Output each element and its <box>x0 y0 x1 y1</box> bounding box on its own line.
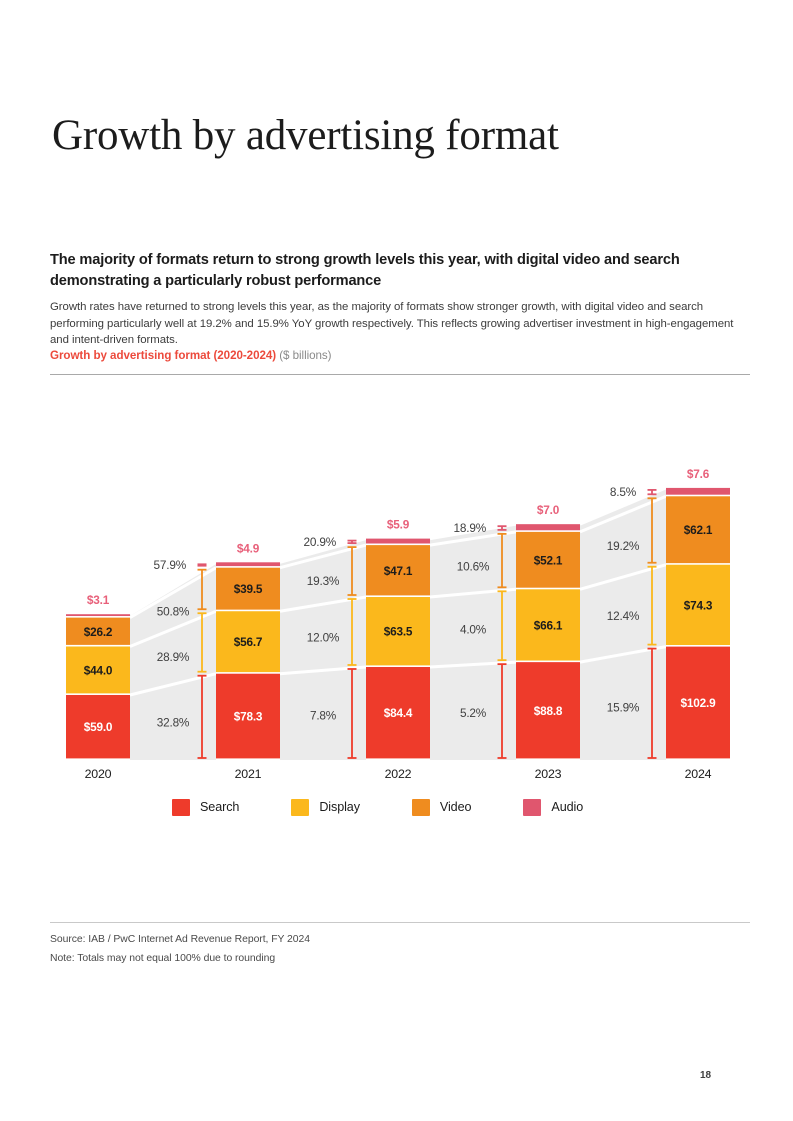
bar-value-label-search: $59.0 <box>84 720 113 734</box>
bar-value-label-display: $44.0 <box>84 663 113 677</box>
bar-value-label-display: $56.7 <box>234 635 263 649</box>
growth-pct-label-search: 7.8% <box>310 709 337 723</box>
x-axis-label: 2022 <box>385 767 412 781</box>
chart-legend: Search Display Video Audio <box>172 796 692 818</box>
bar-value-label-display: $66.1 <box>534 618 563 632</box>
bar-value-label-display: $74.3 <box>684 598 713 612</box>
bar-value-label-video: $62.1 <box>684 523 713 537</box>
chart-area: $59.0$44.0$26.2$3.1$78.3$56.7$39.5$4.9$8… <box>40 400 760 790</box>
bar-group[interactable]: $102.9$74.3$62.1$7.6 <box>666 467 730 758</box>
growth-pct-label-search: 32.8% <box>157 716 190 730</box>
legend-item-display[interactable]: Display <box>291 799 360 816</box>
legend-item-search[interactable]: Search <box>172 799 239 816</box>
legend-swatch-audio <box>523 799 541 816</box>
bar-group[interactable]: $88.8$66.1$52.1$7.0 <box>516 503 580 758</box>
section-headline: The majority of formats return to strong… <box>50 250 750 292</box>
x-axis-label: 2024 <box>685 767 712 781</box>
x-axis-labels: 20202021202220232024 <box>85 767 712 781</box>
page-title: Growth by advertising format <box>52 109 752 163</box>
x-axis-label: 2020 <box>85 767 112 781</box>
growth-pct-label-audio: 20.9% <box>304 535 337 549</box>
slide-page: Growth by advertising format The majorit… <box>0 0 793 1121</box>
growth-pct-label-video: 19.3% <box>307 574 340 588</box>
note-line: Note: Totals may not equal 100% due to r… <box>50 949 650 968</box>
bar-value-label-search: $84.4 <box>384 706 413 720</box>
legend-label-audio: Audio <box>551 800 583 814</box>
bar-value-label-search: $88.8 <box>534 704 563 718</box>
bar-value-label-display: $63.5 <box>384 625 413 639</box>
page-number: 18 <box>700 1070 750 1081</box>
bar-segment-audio[interactable] <box>366 539 430 544</box>
bar-group[interactable]: $84.4$63.5$47.1$5.9 <box>366 518 430 759</box>
growth-pct-label-video: 19.2% <box>607 539 640 553</box>
bar-segment-audio[interactable] <box>516 524 580 530</box>
legend-label-search: Search <box>200 800 239 814</box>
legend-swatch-video <box>412 799 430 816</box>
bar-value-label-video: $47.1 <box>384 564 413 578</box>
stacked-bar-chart: $59.0$44.0$26.2$3.1$78.3$56.7$39.5$4.9$8… <box>40 400 760 790</box>
legend-item-audio[interactable]: Audio <box>523 799 583 816</box>
growth-pct-label-audio: 18.9% <box>454 521 487 535</box>
bar-value-label-audio: $3.1 <box>87 593 110 607</box>
growth-pct-label-search: 15.9% <box>607 701 640 715</box>
bar-segment-audio[interactable] <box>66 614 130 616</box>
legend-label-video: Video <box>440 800 471 814</box>
legend-label-display: Display <box>319 800 360 814</box>
bar-group[interactable]: $59.0$44.0$26.2$3.1 <box>66 593 130 758</box>
growth-pct-label-search: 5.2% <box>460 706 487 720</box>
chart-heading: Growth by advertising format (2020-2024)… <box>50 348 750 364</box>
growth-pct-label-display: 12.4% <box>607 609 640 623</box>
growth-pct-label-video: 10.6% <box>457 559 490 573</box>
growth-pct-label-display: 4.0% <box>460 622 487 636</box>
bar-value-label-audio: $5.9 <box>387 518 410 532</box>
footer-divider <box>50 922 750 923</box>
chart-heading-main: Growth by advertising format (2020-2024) <box>50 349 276 362</box>
bar-value-label-audio: $4.9 <box>237 541 260 555</box>
legend-item-video[interactable]: Video <box>412 799 471 816</box>
growth-bracket-audio <box>198 564 207 565</box>
bar-segment-audio[interactable] <box>216 562 280 566</box>
x-axis-label: 2021 <box>235 767 262 781</box>
bar-value-label-search: $102.9 <box>681 696 717 710</box>
chart-divider <box>50 374 750 375</box>
intro-paragraph: Growth rates have returned to strong lev… <box>50 299 752 348</box>
footer-notes: Source: IAB / PwC Internet Ad Revenue Re… <box>50 930 650 968</box>
bar-value-label-video: $52.1 <box>534 553 563 567</box>
bar-segment-audio[interactable] <box>666 488 730 495</box>
bar-group[interactable]: $78.3$56.7$39.5$4.9 <box>216 541 280 758</box>
bar-value-label-video: $26.2 <box>84 625 113 639</box>
chart-heading-unit: ($ billions) <box>279 349 331 362</box>
bar-value-label-video: $39.5 <box>234 582 263 596</box>
bar-value-label-search: $78.3 <box>234 710 263 724</box>
source-line: Source: IAB / PwC Internet Ad Revenue Re… <box>50 930 650 949</box>
x-axis-label: 2023 <box>535 767 562 781</box>
growth-pct-label-audio: 8.5% <box>610 485 637 499</box>
growth-pct-label-audio: 57.9% <box>154 558 187 572</box>
bar-value-label-audio: $7.6 <box>687 467 710 481</box>
growth-pct-label-display: 28.9% <box>157 650 190 664</box>
legend-swatch-search <box>172 799 190 816</box>
legend-swatch-display <box>291 799 309 816</box>
growth-pct-label-display: 12.0% <box>307 631 340 645</box>
growth-pct-label-video: 50.8% <box>157 604 190 618</box>
bar-value-label-audio: $7.0 <box>537 503 560 517</box>
